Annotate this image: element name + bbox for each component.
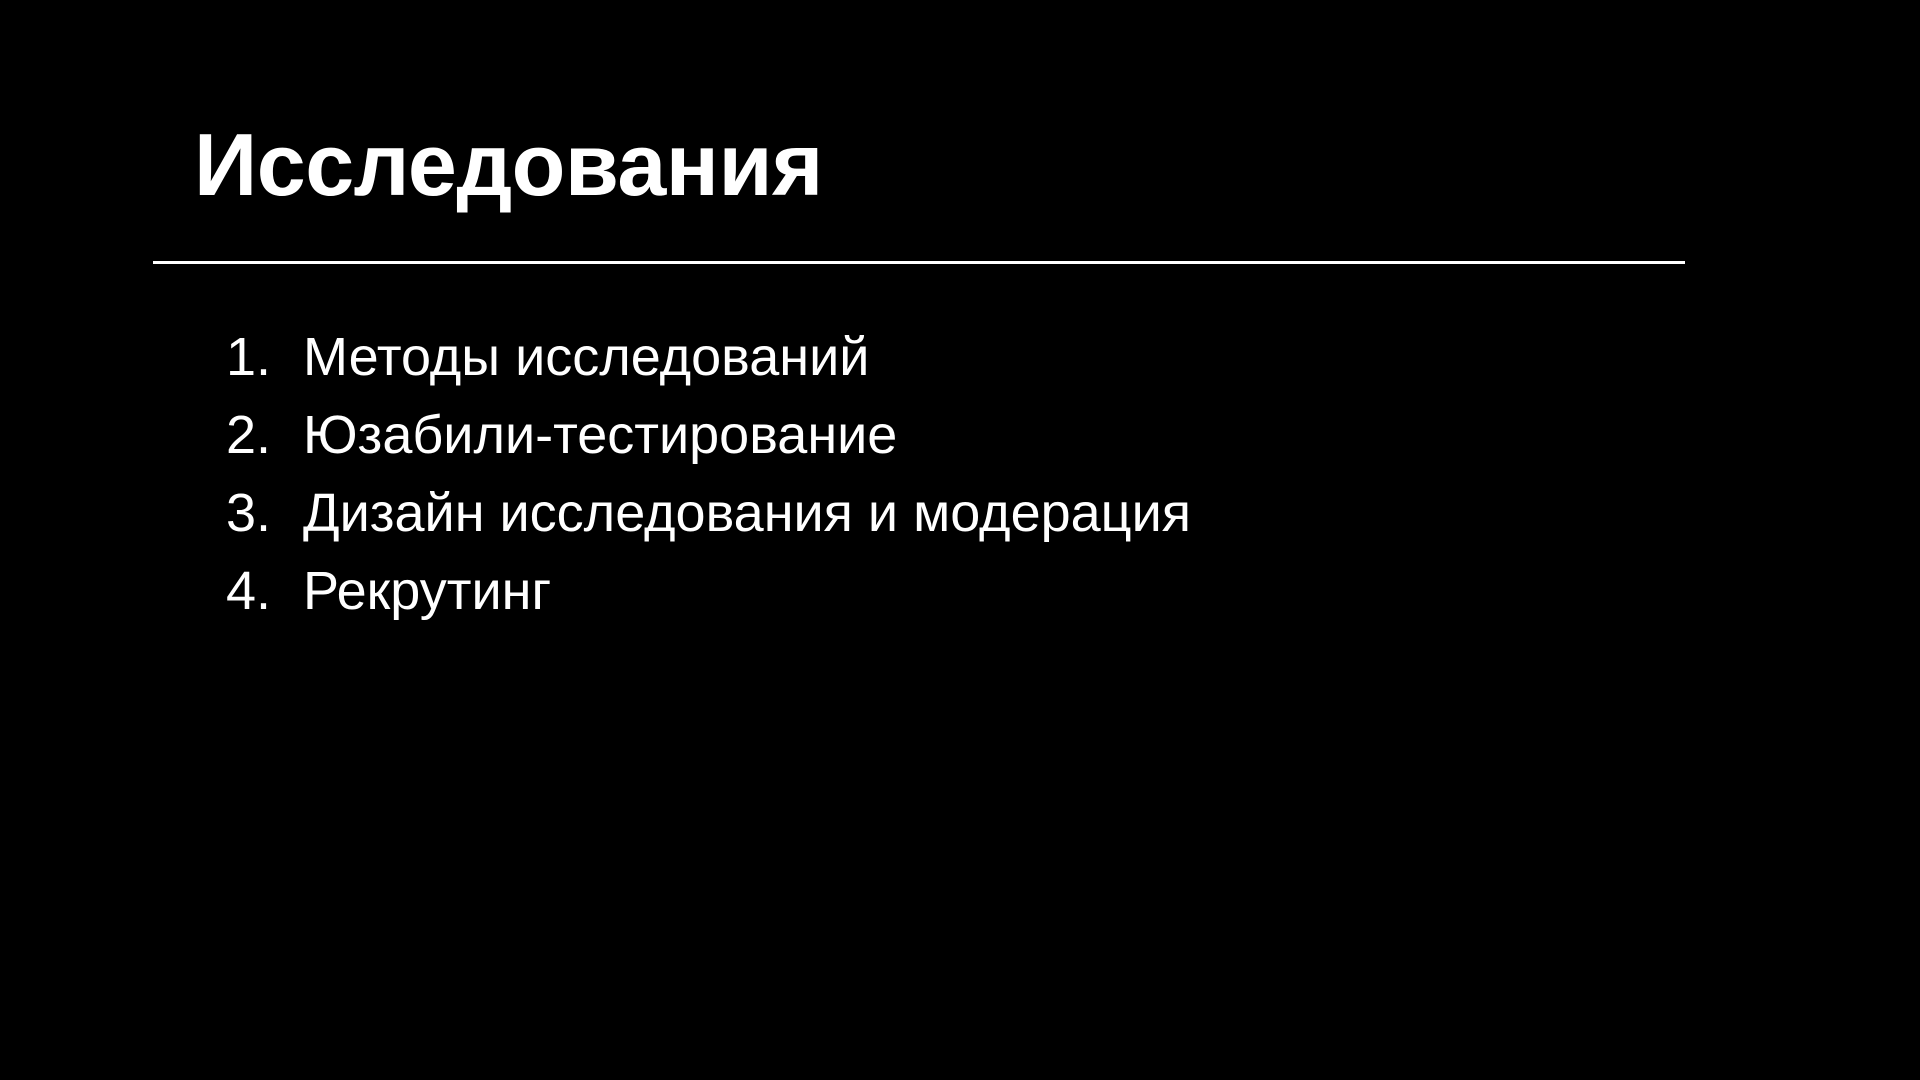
title-block: Исследования [194,120,1726,210]
list-item-label: Юзабили-тестирование [303,396,897,474]
list-item-label: Дизайн исследования и модерация [303,474,1191,552]
presentation-slide: Исследования 1. Методы исследований 2. Ю… [0,0,1920,1080]
list-item-marker: 3. [226,474,303,552]
list-item-label: Рекрутинг [303,552,551,630]
list-item-label: Методы исследований [303,318,869,396]
list-item: 3. Дизайн исследования и модерация [226,474,1191,552]
list-item: 1. Методы исследований [226,318,1191,396]
list-item-marker: 2. [226,396,303,474]
agenda-list: 1. Методы исследований 2. Юзабили-тестир… [226,318,1191,630]
title-underline-divider [153,261,1685,264]
list-item-marker: 4. [226,552,303,630]
list-item: 2. Юзабили-тестирование [226,396,1191,474]
list-item: 4. Рекрутинг [226,552,1191,630]
list-item-marker: 1. [226,318,303,396]
page-title: Исследования [194,120,1726,210]
